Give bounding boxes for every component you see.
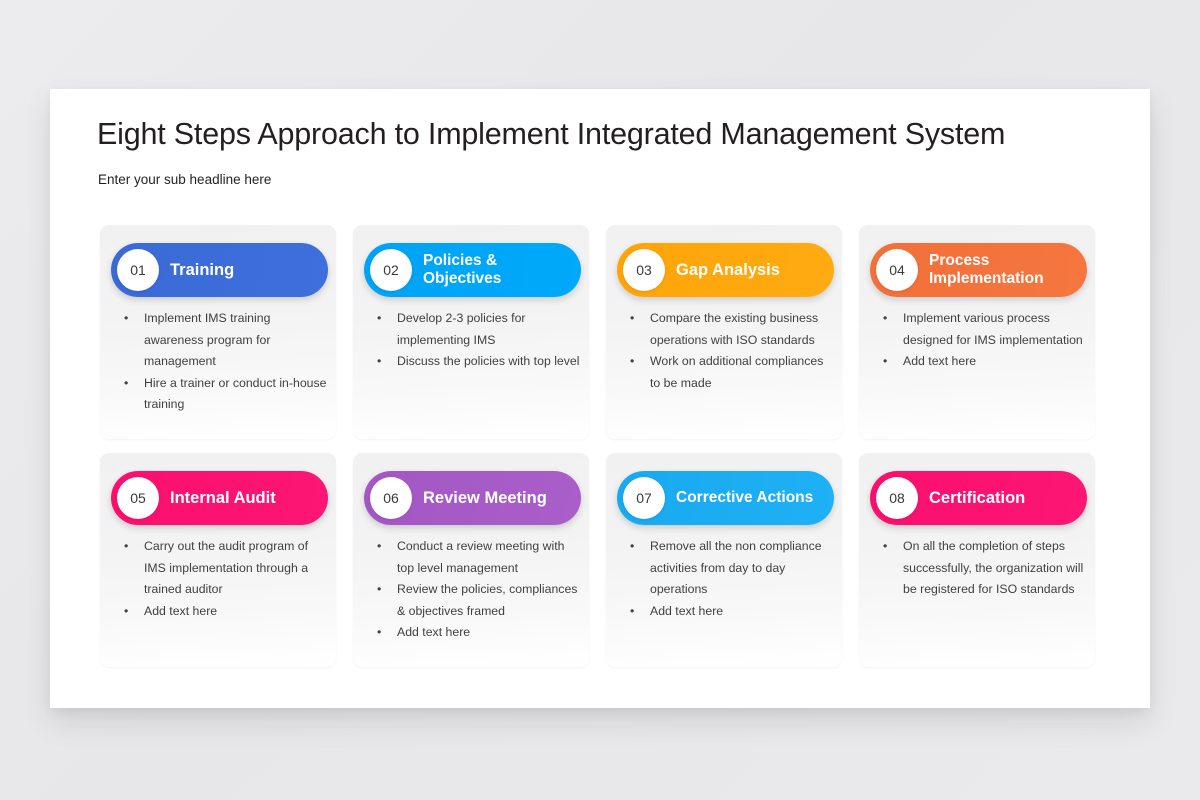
step-header-pill[interactable]: 02Policies & Objectives bbox=[364, 243, 581, 297]
step-bullet-list: •Carry out the audit program of IMS impl… bbox=[122, 536, 328, 622]
step-bullet-text: Hire a trainer or conduct in-house train… bbox=[144, 376, 327, 412]
step-header-pill[interactable]: 03Gap Analysis bbox=[617, 243, 834, 297]
bullet-dot-icon: • bbox=[377, 308, 381, 330]
bullet-dot-icon: • bbox=[124, 308, 128, 330]
step-bullet-item: •Review the policies, compliances & obje… bbox=[375, 579, 581, 622]
step-title: Certification bbox=[929, 489, 1087, 508]
step-title: Internal Audit bbox=[170, 489, 328, 508]
step-bullet-item: •Develop 2-3 policies for implementing I… bbox=[375, 308, 581, 351]
step-bullet-item: •Carry out the audit program of IMS impl… bbox=[122, 536, 328, 601]
step-bullet-list: •Conduct a review meeting with top level… bbox=[375, 536, 581, 644]
step-header-pill[interactable]: 01Training bbox=[111, 243, 328, 297]
step-bullet-item: •Implement various process designed for … bbox=[881, 308, 1087, 351]
step-number-badge: 04 bbox=[876, 249, 918, 291]
step-bullet-list: •Implement various process designed for … bbox=[881, 308, 1087, 373]
bullet-dot-icon: • bbox=[883, 308, 887, 330]
step-number-badge: 07 bbox=[623, 477, 665, 519]
step-header-pill[interactable]: 07Corrective Actions bbox=[617, 471, 834, 525]
step-bullet-item: •Implement IMS training awareness progra… bbox=[122, 308, 328, 373]
step-number-badge: 06 bbox=[370, 477, 412, 519]
step-bullet-item: •Conduct a review meeting with top level… bbox=[375, 536, 581, 579]
step-bullet-list: •Compare the existing business operation… bbox=[628, 308, 834, 394]
page-subtitle: Enter your sub headline here bbox=[98, 172, 271, 187]
step-bullet-item: •Add text here bbox=[628, 601, 834, 623]
step-bullet-list: •On all the completion of steps successf… bbox=[881, 536, 1087, 601]
step-card[interactable]: 02Policies & Objectives•Develop 2-3 poli… bbox=[353, 225, 589, 439]
bullet-dot-icon: • bbox=[883, 351, 887, 373]
step-title: Policies & Objectives bbox=[423, 252, 581, 288]
bullet-dot-icon: • bbox=[630, 536, 634, 558]
step-bullet-item: •Discuss the policies with top level bbox=[375, 351, 581, 373]
step-title: Corrective Actions bbox=[676, 489, 834, 507]
bullet-dot-icon: • bbox=[124, 373, 128, 395]
step-header-pill[interactable]: 08Certification bbox=[870, 471, 1087, 525]
step-bullet-item: •Compare the existing business operation… bbox=[628, 308, 834, 351]
step-bullet-text: Conduct a review meeting with top level … bbox=[397, 539, 564, 575]
bullet-dot-icon: • bbox=[377, 536, 381, 558]
bullet-dot-icon: • bbox=[883, 536, 887, 558]
step-bullet-text: On all the completion of steps successfu… bbox=[903, 539, 1083, 596]
bullet-dot-icon: • bbox=[124, 601, 128, 623]
step-bullet-text: Add text here bbox=[903, 354, 976, 368]
step-bullet-text: Implement various process designed for I… bbox=[903, 311, 1083, 347]
step-card[interactable]: 05Internal Audit•Carry out the audit pro… bbox=[100, 453, 336, 667]
step-bullet-text: Review the policies, compliances & objec… bbox=[397, 582, 577, 618]
step-card[interactable]: 03Gap Analysis•Compare the existing busi… bbox=[606, 225, 842, 439]
bullet-dot-icon: • bbox=[630, 308, 634, 330]
page-title: Eight Steps Approach to Implement Integr… bbox=[97, 117, 1005, 152]
slide-canvas: Eight Steps Approach to Implement Integr… bbox=[50, 89, 1150, 708]
step-card[interactable]: 07Corrective Actions•Remove all the non … bbox=[606, 453, 842, 667]
bullet-dot-icon: • bbox=[630, 351, 634, 373]
step-bullet-text: Compare the existing business operations… bbox=[650, 311, 818, 347]
step-bullet-text: Work on additional compliances to be mad… bbox=[650, 354, 823, 390]
step-card[interactable]: 01Training•Implement IMS training awaren… bbox=[100, 225, 336, 439]
step-number-badge: 03 bbox=[623, 249, 665, 291]
step-bullet-list: •Implement IMS training awareness progra… bbox=[122, 308, 328, 416]
step-card[interactable]: 06Review Meeting•Conduct a review meetin… bbox=[353, 453, 589, 667]
step-bullet-text: Implement IMS training awareness program… bbox=[144, 311, 270, 368]
step-card[interactable]: 04Process Implementation•Implement vario… bbox=[859, 225, 1095, 439]
step-bullet-text: Add text here bbox=[397, 625, 470, 639]
step-bullet-item: •Hire a trainer or conduct in-house trai… bbox=[122, 373, 328, 416]
step-bullet-item: •On all the completion of steps successf… bbox=[881, 536, 1087, 601]
step-bullet-item: •Add text here bbox=[375, 622, 581, 644]
step-header-pill[interactable]: 05Internal Audit bbox=[111, 471, 328, 525]
step-number-badge: 05 bbox=[117, 477, 159, 519]
step-bullet-text: Add text here bbox=[650, 604, 723, 618]
step-bullet-item: •Add text here bbox=[122, 601, 328, 623]
step-bullet-text: Add text here bbox=[144, 604, 217, 618]
step-bullet-list: •Develop 2-3 policies for implementing I… bbox=[375, 308, 581, 373]
step-bullet-text: Develop 2-3 policies for implementing IM… bbox=[397, 311, 526, 347]
step-number-badge: 02 bbox=[370, 249, 412, 291]
bullet-dot-icon: • bbox=[377, 351, 381, 373]
step-bullet-text: Remove all the non compliance activities… bbox=[650, 539, 822, 596]
step-bullet-text: Discuss the policies with top level bbox=[397, 354, 579, 368]
steps-grid: 01Training•Implement IMS training awaren… bbox=[100, 225, 1103, 667]
step-header-pill[interactable]: 06Review Meeting bbox=[364, 471, 581, 525]
step-header-pill[interactable]: 04Process Implementation bbox=[870, 243, 1087, 297]
bullet-dot-icon: • bbox=[630, 601, 634, 623]
step-bullet-item: •Add text here bbox=[881, 351, 1087, 373]
step-title: Review Meeting bbox=[423, 489, 581, 508]
step-bullet-list: •Remove all the non compliance activitie… bbox=[628, 536, 834, 622]
bullet-dot-icon: • bbox=[377, 579, 381, 601]
step-bullet-text: Carry out the audit program of IMS imple… bbox=[144, 539, 308, 596]
page-background: Eight Steps Approach to Implement Integr… bbox=[0, 0, 1200, 800]
step-bullet-item: •Remove all the non compliance activitie… bbox=[628, 536, 834, 601]
bullet-dot-icon: • bbox=[377, 622, 381, 644]
step-number-badge: 08 bbox=[876, 477, 918, 519]
bullet-dot-icon: • bbox=[124, 536, 128, 558]
step-card[interactable]: 08Certification•On all the completion of… bbox=[859, 453, 1095, 667]
step-title: Training bbox=[170, 261, 328, 280]
step-bullet-item: •Work on additional compliances to be ma… bbox=[628, 351, 834, 394]
step-title: Process Implementation bbox=[929, 252, 1087, 288]
step-title: Gap Analysis bbox=[676, 261, 834, 280]
step-number-badge: 01 bbox=[117, 249, 159, 291]
